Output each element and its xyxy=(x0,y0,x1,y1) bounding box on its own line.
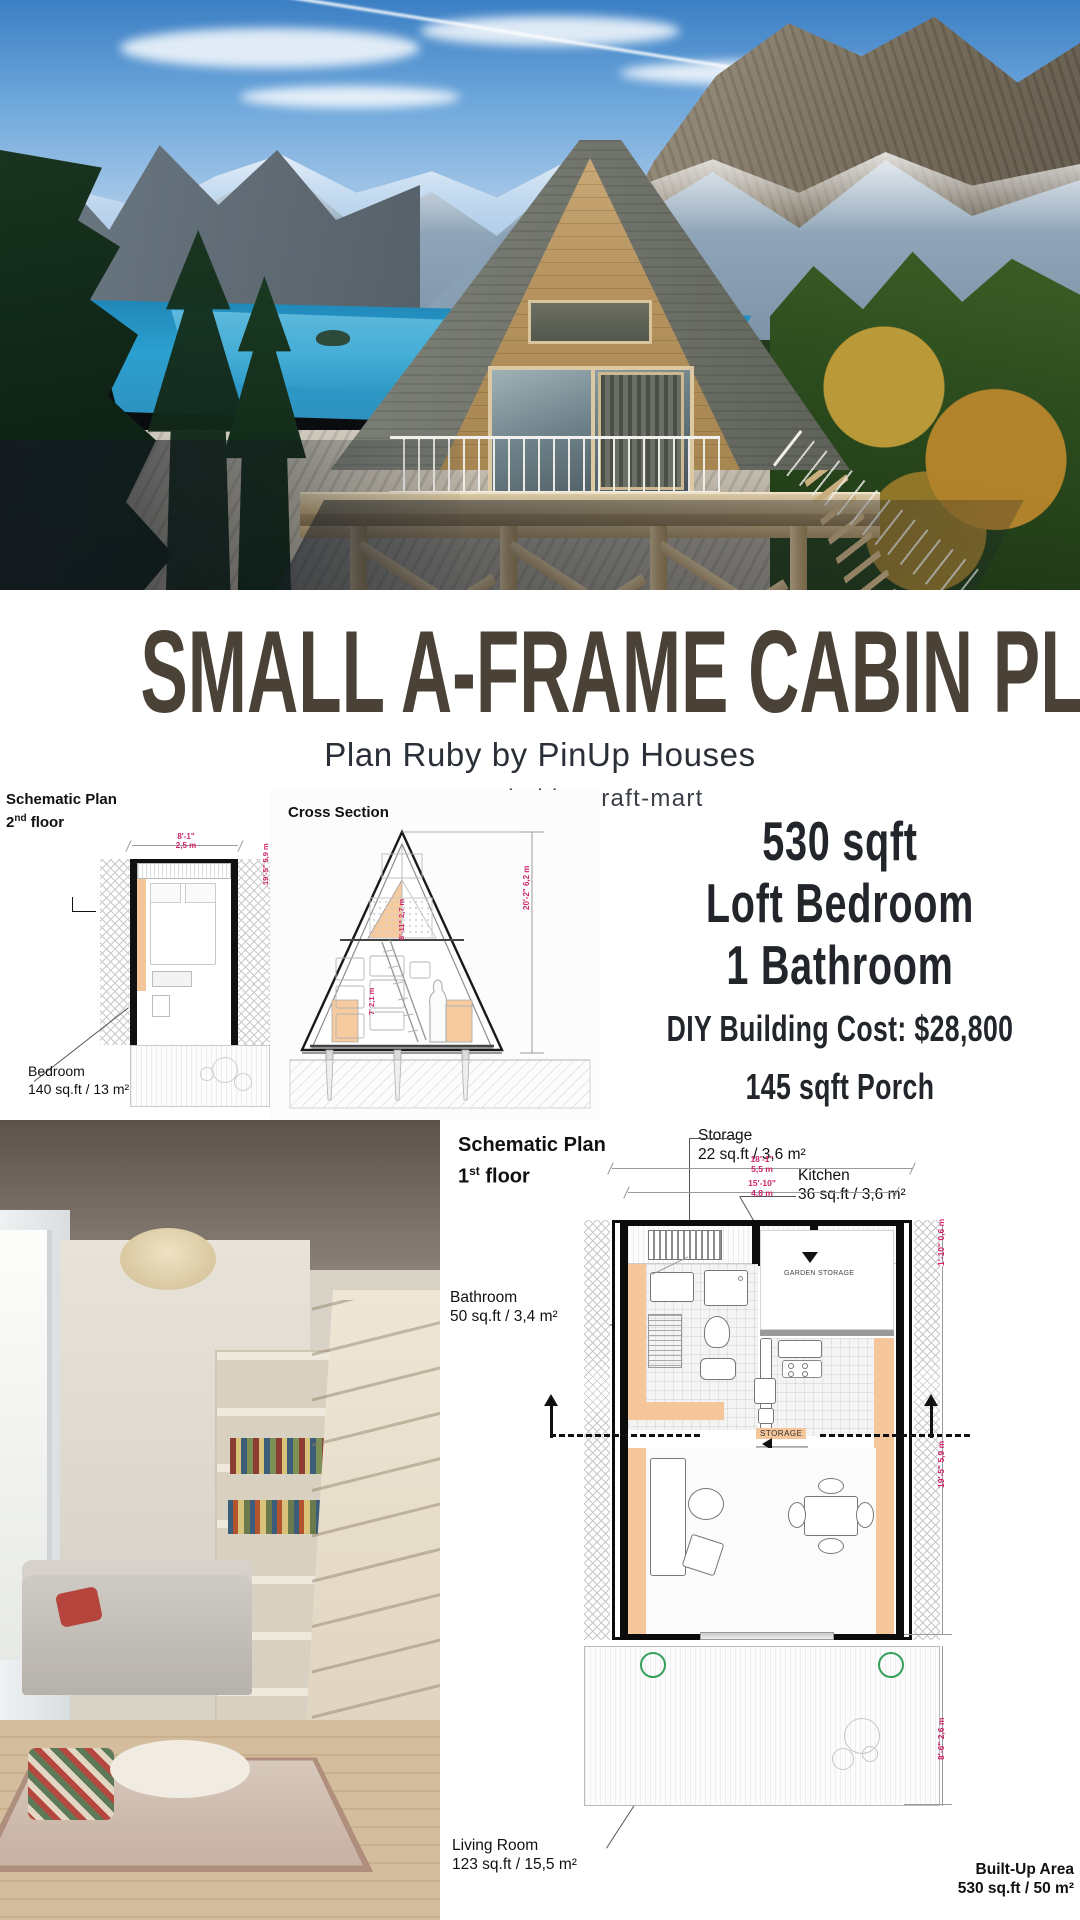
section-marker xyxy=(72,897,73,912)
bedroom-label-name: Bedroom xyxy=(28,1063,85,1079)
ottoman xyxy=(28,1748,114,1820)
floor-dim-ft: 7' xyxy=(367,1009,376,1015)
partition-wall xyxy=(752,1226,760,1266)
height-dim-m: 6,2 m xyxy=(522,866,531,886)
section-cut-line-right xyxy=(820,1434,970,1437)
top-band-ft: 1'-10" xyxy=(936,1243,946,1266)
porch-furniture xyxy=(862,1746,878,1762)
spec-porch: 145 sqft Porch xyxy=(662,1062,1017,1112)
section-arrow-left xyxy=(544,1394,558,1406)
outer-width-dimension: 18'-1" 5,5 m xyxy=(707,1154,817,1174)
bottom-row: Schematic Plan 1st floor Storage 22 sq.f… xyxy=(0,1120,1080,1920)
bedroom-label: Bedroom 140 sq.ft / 13 m² xyxy=(28,1062,129,1098)
dining-chair xyxy=(788,1502,806,1528)
upper-cabinet xyxy=(778,1340,822,1358)
depth-ft: 19'-5" xyxy=(936,1465,946,1488)
cloud xyxy=(120,28,420,68)
porch-circle xyxy=(234,1073,252,1091)
outer-width-ft: 18'-1" xyxy=(750,1154,773,1164)
spec-bathroom: 1 Bathroom xyxy=(667,934,1013,996)
cloud xyxy=(420,16,680,46)
toilet xyxy=(704,1316,730,1348)
built-up-area-value: 530 sq.ft / 50 m² xyxy=(958,1880,1074,1897)
inner-width-m: 4,8 m xyxy=(751,1188,773,1198)
planter xyxy=(878,1652,904,1678)
inner-width-dimension: 15'-10" 4,8 m xyxy=(707,1178,817,1198)
sink xyxy=(700,1358,736,1380)
first-floor-plan-header: Schematic Plan 1st floor xyxy=(458,1132,606,1190)
storage-label-name: Storage xyxy=(698,1127,752,1144)
wall-left xyxy=(130,859,137,1045)
tub-drain xyxy=(738,1276,743,1281)
porch-depth-ft: 8'-6" xyxy=(936,1742,946,1760)
height-dim-ft: 20'-2" xyxy=(522,888,531,910)
bathroom-counter xyxy=(628,1402,724,1420)
plan-subtitle: Plan Ruby by PinUp Houses xyxy=(0,736,1080,774)
burner xyxy=(802,1363,808,1369)
dimension-tick xyxy=(238,840,244,851)
first-floor-plan-header-line2: 1st floor xyxy=(458,1158,606,1190)
page-title: SMALL A-FRAME CABIN PLAN xyxy=(140,612,939,734)
living-room-label-area: 123 sq.ft / 15,5 m² xyxy=(452,1856,577,1873)
dining-table xyxy=(804,1496,858,1536)
books xyxy=(228,1500,322,1534)
floor-ordinal-suffix: st xyxy=(469,1164,480,1178)
title-block: SMALL A-FRAME CABIN PLAN Plan Ruby by Pi… xyxy=(0,590,1080,790)
wall-right xyxy=(896,1220,904,1640)
sofa xyxy=(22,1575,252,1695)
second-floor-plan-header: Schematic Plan 2nd floor xyxy=(6,790,117,832)
door-swing-arrow xyxy=(802,1252,818,1263)
depth-m: 5,9 m xyxy=(936,1441,946,1463)
spec-area: 530 sqft xyxy=(667,810,1013,872)
bathroom-label-name: Bathroom xyxy=(450,1289,517,1306)
bathroom-label: Bathroom 50 sq.ft / 3,4 m² xyxy=(450,1288,558,1326)
living-room-label: Living Room 123 sq.ft / 15,5 m² xyxy=(452,1836,577,1874)
bathroom-label-area: 50 sq.ft / 3,4 m² xyxy=(450,1308,558,1325)
insulation-strip xyxy=(137,873,146,991)
cross-section-drawing: Cross Section xyxy=(270,790,600,1120)
floor-ordinal-suffix: nd xyxy=(14,813,26,824)
garden-storage-tag: GARDEN STORAGE xyxy=(784,1270,854,1277)
section-marker xyxy=(72,911,96,912)
second-floor-width-dimension: 8'-1" 2,5 m xyxy=(146,832,226,850)
dining-chair xyxy=(818,1478,844,1494)
towel-radiator xyxy=(648,1314,682,1368)
top-band-dimension: 1'-10" 0,6 m xyxy=(936,1219,946,1266)
loft-railing xyxy=(137,863,231,879)
dining-chair xyxy=(856,1502,874,1528)
loft-dim-ft: 8'-11" xyxy=(397,920,406,940)
shower-tray xyxy=(650,1272,694,1302)
pillow xyxy=(185,883,216,903)
storage-wall xyxy=(760,1330,894,1336)
wall-hatch-left xyxy=(584,1220,610,1640)
coffee-table xyxy=(110,1740,250,1798)
floor-word: floor xyxy=(480,1166,530,1188)
first-floor-plan: Schematic Plan 1st floor Storage 22 sq.f… xyxy=(440,1120,1080,1920)
second-floor-plan-header-line1: Schematic Plan xyxy=(6,790,117,809)
floor-number: 1 xyxy=(458,1166,469,1188)
sofa xyxy=(650,1458,686,1576)
chair xyxy=(152,995,170,1017)
cloud xyxy=(240,86,460,108)
wall-left xyxy=(620,1220,628,1640)
specs-panel: 530 sqft Loft Bedroom 1 Bathroom DIY Bui… xyxy=(600,810,1080,1112)
second-floor-plan-header-line2: 2nd floor xyxy=(6,809,117,832)
roof-hatch-right xyxy=(238,859,270,1045)
wall-bottom-right xyxy=(834,1634,904,1640)
cross-section-floor-dimension: 7' 2,1 m xyxy=(368,988,377,1015)
living-insulation-left xyxy=(628,1448,646,1634)
dining-chair xyxy=(818,1538,844,1554)
second-floor-plan: Schematic Plan 2nd floor 8'-1" 2,5 m xyxy=(0,790,270,1120)
wall-hatch-right xyxy=(914,1220,940,1640)
planter xyxy=(640,1652,666,1678)
bedroom-label-area: 140 sq.ft / 13 m² xyxy=(28,1081,129,1097)
pendant-lamp xyxy=(120,1228,216,1290)
cabin-loft-window xyxy=(528,300,652,344)
first-floor-plan-header-line1: Schematic Plan xyxy=(458,1132,606,1158)
interior-photo xyxy=(0,1120,440,1920)
fridge xyxy=(754,1378,776,1404)
coffee-table xyxy=(688,1488,724,1520)
section-arrow-right xyxy=(924,1394,938,1406)
inner-width-ft: 15'-10" xyxy=(748,1178,776,1188)
built-up-area-title: Built-Up Area xyxy=(976,1861,1074,1878)
floor-dim-m: 2,1 m xyxy=(367,988,376,1007)
mid-row: Schematic Plan 2nd floor 8'-1" 2,5 m xyxy=(0,790,1080,1120)
cross-section-svg xyxy=(270,810,600,1110)
first-floor-drawing: 18'-1" 5,5 m 15'-10" 4,8 m xyxy=(612,1220,912,1840)
width-dim-m: 2,5 m xyxy=(176,841,196,850)
burner xyxy=(788,1371,794,1377)
storage-leader-line xyxy=(690,1138,742,1139)
depth-dim-m: 5,9 m xyxy=(261,843,270,862)
nightstand xyxy=(152,971,192,987)
porch-furniture xyxy=(832,1748,854,1770)
spec-cost: DIY Building Cost: $28,800 xyxy=(662,1004,1017,1054)
section-cut-line-left xyxy=(550,1434,700,1437)
cabin-cast-shadow xyxy=(276,500,1024,590)
pillow xyxy=(150,883,181,903)
cross-section-loft-dimension: 8'-11" 2,7 m xyxy=(398,899,407,940)
top-band-m: 0,6 m xyxy=(936,1219,946,1241)
sliding-glass-door xyxy=(700,1632,834,1640)
dimension-extension xyxy=(904,1634,952,1635)
porch-circle xyxy=(200,1067,214,1081)
depth-dim-ft: 19'-5" xyxy=(261,865,270,885)
spec-bedroom: Loft Bedroom xyxy=(667,872,1013,934)
width-dim-ft: 8'-1" xyxy=(177,832,194,841)
garden-storage-room xyxy=(760,1230,894,1330)
burner xyxy=(802,1371,808,1377)
built-up-area-label: Built-Up Area 530 sq.ft / 50 m² xyxy=(814,1860,1074,1898)
kitchen-sink xyxy=(758,1408,774,1424)
depth-dimension: 19'-5" 5,9 m xyxy=(936,1441,946,1488)
second-floor-drawing: 8'-1" 2,5 m xyxy=(100,845,270,1065)
wall-right xyxy=(231,859,238,1045)
dimension-tick xyxy=(126,840,132,851)
wall-bottom-left xyxy=(620,1634,700,1640)
floor-word: floor xyxy=(27,814,65,831)
cross-section-height-dimension: 20'-2" 6,2 m xyxy=(522,866,531,910)
louvered-vent xyxy=(648,1230,722,1260)
dimension-extension xyxy=(904,1804,952,1805)
burner xyxy=(788,1363,794,1369)
outer-width-m: 5,5 m xyxy=(751,1164,773,1174)
loft-dim-m: 2,7 m xyxy=(397,899,406,918)
porch-depth-m: 2,6 m xyxy=(936,1718,946,1740)
porch-depth-dimension: 8'-6" 2,6 m xyxy=(936,1718,946,1760)
living-room-label-name: Living Room xyxy=(452,1837,538,1854)
hero-photo xyxy=(0,0,1080,590)
living-insulation-right xyxy=(876,1448,894,1634)
bathroom-insulation xyxy=(628,1264,646,1414)
